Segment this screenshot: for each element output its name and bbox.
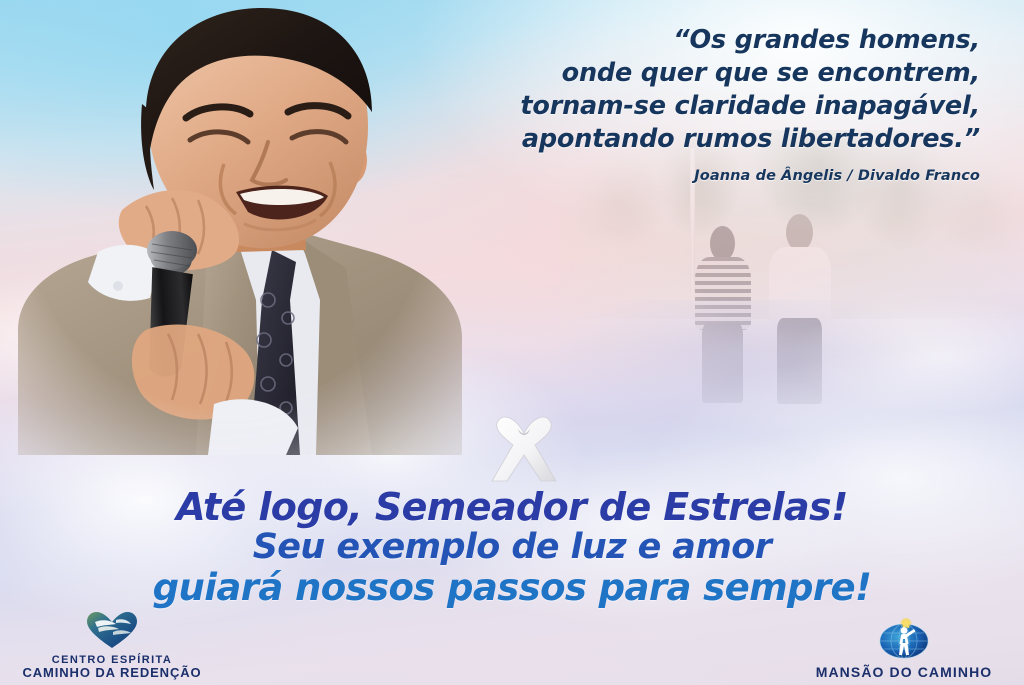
quote-attribution: Joanna de Ângelis / Divaldo Franco [420,167,980,185]
logo-mansao-do-caminho: MANSÃO DO CAMINHO [794,618,1014,681]
logo-line-2: MANSÃO DO CAMINHO [816,665,993,681]
heart-hands-logo-icon [86,611,138,654]
headline-line-2: Seu exemplo de luz e amor [0,528,1024,567]
white-ribbon-icon [485,407,563,487]
globe-figure-logo-icon [878,618,930,665]
quote-line-1: “Os grandes homens, [420,24,980,57]
headline-line-3: guiará nossos passos para sempre! [0,567,1024,608]
poster-canvas: “Os grandes homens, onde quer que se enc… [0,0,1024,685]
headline-block: Até logo, Semeador de Estrelas! Seu exem… [0,487,1024,608]
quote-block: “Os grandes homens, onde quer que se enc… [420,24,980,185]
logo-centro-espirita-text: CENTRO ESPÍRITA CAMINHO DA REDENÇÃO [22,654,201,681]
logo-line-2: CAMINHO DA REDENÇÃO [22,666,201,681]
portrait-photo [0,0,470,455]
quote-line-3: tornam-se claridade inapagável, [420,90,980,123]
quote-line-4: apontando rumos libertadores.” [420,123,980,156]
headline-line-1: Até logo, Semeador de Estrelas! [0,487,1024,528]
logo-mansao-do-caminho-text: MANSÃO DO CAMINHO [816,665,993,681]
quote-line-2: onde quer que se encontrem, [420,57,980,90]
logo-centro-espirita: CENTRO ESPÍRITA CAMINHO DA REDENÇÃO [14,611,210,681]
